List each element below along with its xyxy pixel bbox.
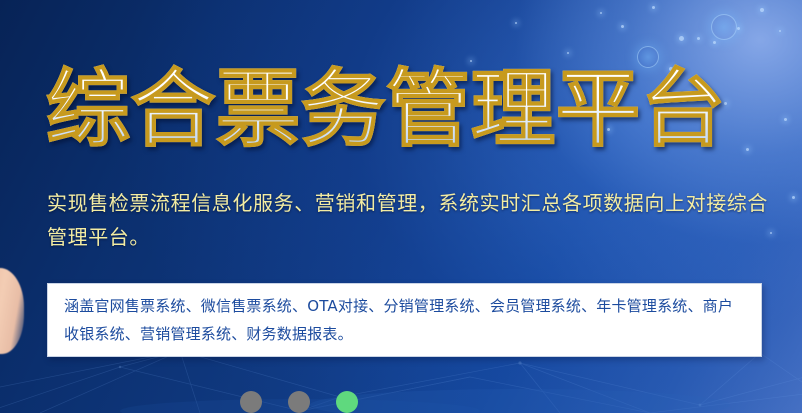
feature-list-card: 涵盖官网售票系统、微信售票系统、OTA对接、分销管理系统、会员管理系统、年卡管理… <box>47 283 762 357</box>
slide-pagination[interactable] <box>240 391 358 413</box>
page-title: 综合票务管理平台 <box>46 55 786 165</box>
bokeh-dot-icon <box>697 37 700 40</box>
bokeh-dot-icon <box>737 27 740 30</box>
bokeh-dot-icon <box>567 52 569 54</box>
bokeh-dot-icon <box>760 8 764 12</box>
bokeh-dot-icon <box>652 6 655 9</box>
bokeh-dot-icon <box>679 36 684 41</box>
slide-dot-1[interactable] <box>240 391 262 413</box>
page-title-text: 综合票务管理平台 <box>46 55 786 163</box>
bokeh-dot-icon <box>792 196 795 199</box>
bokeh-dot-icon <box>779 30 781 32</box>
bokeh-dot-icon <box>713 41 716 44</box>
bokeh-ring-icon <box>711 14 737 40</box>
bokeh-dot-icon <box>621 25 624 28</box>
bokeh-dot-icon <box>600 12 602 14</box>
slide-dot-2[interactable] <box>288 391 310 413</box>
bokeh-dot-icon <box>515 22 517 24</box>
slide-dot-3[interactable] <box>336 391 358 413</box>
slide-subtitle: 实现售检票流程信息化服务、营销和管理，系统实时汇总各项数据向上对接综合管理平台。 <box>47 186 787 254</box>
feature-list-text: 涵盖官网售票系统、微信售票系统、OTA对接、分销管理系统、会员管理系统、年卡管理… <box>48 292 761 348</box>
presentation-slide: 综合票务管理平台 实现售检票流程信息化服务、营销和管理，系统实时汇总各项数据向上… <box>0 0 802 413</box>
